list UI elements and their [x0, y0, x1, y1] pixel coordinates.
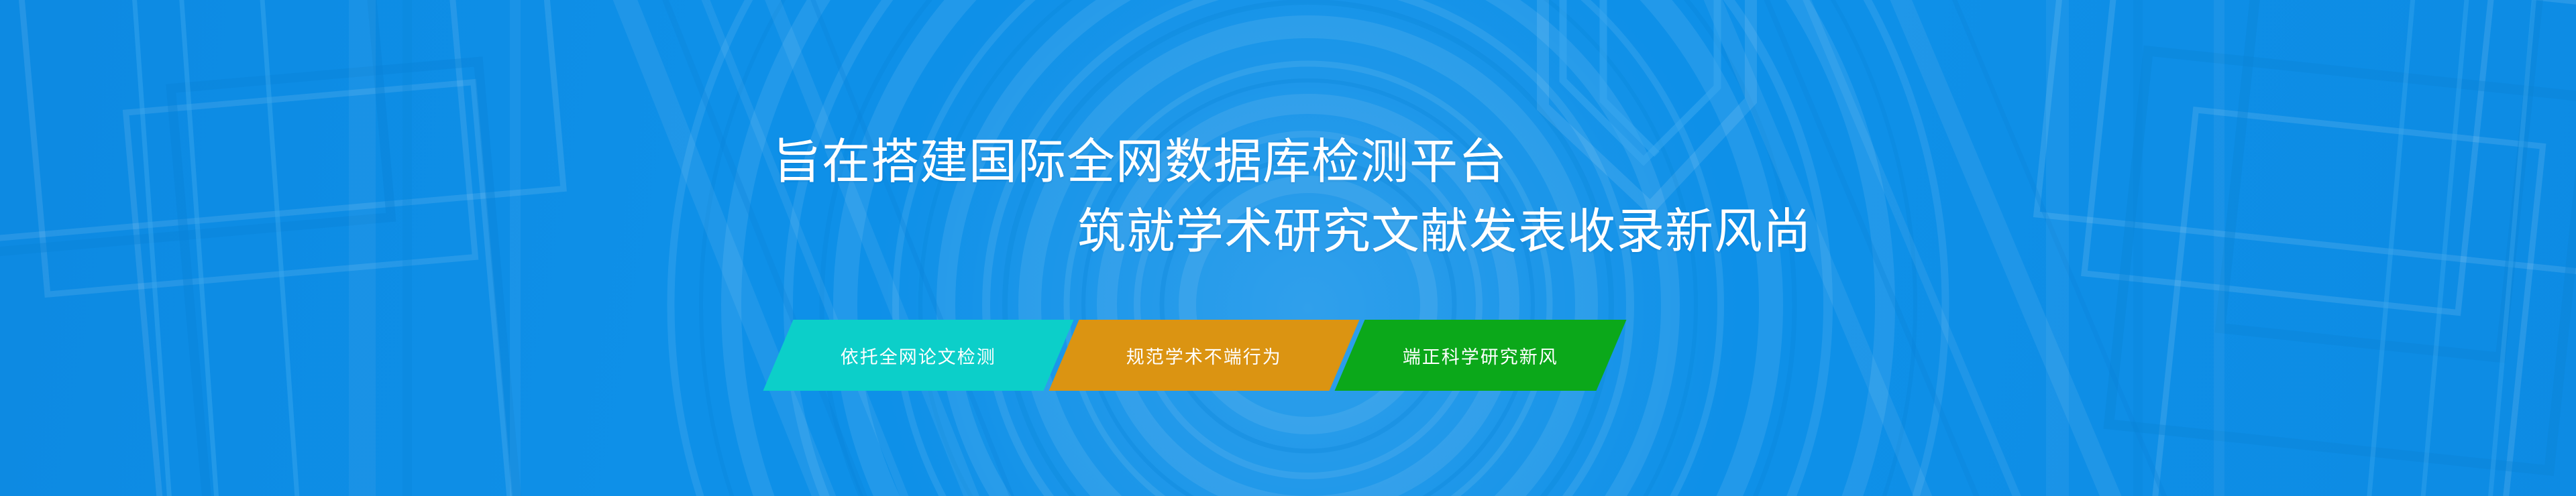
- feature-tag-label: 端正科学研究新风: [1403, 343, 1558, 369]
- feature-tag-academic-misconduct[interactable]: 规范学术不端行为: [1049, 320, 1360, 391]
- feature-tag-label: 依托全网论文检测: [841, 343, 996, 369]
- feature-tag-research-integrity[interactable]: 端正科学研究新风: [1335, 320, 1627, 391]
- headline-block: 旨在搭建国际全网数据库检测平台 筑就学术研究文献发表收录新风尚: [0, 127, 2576, 267]
- feature-tag-plagiarism-detection[interactable]: 依托全网论文检测: [763, 320, 1074, 391]
- feature-tag-strip: 依托全网论文检测 规范学术不端行为 端正科学研究新风: [778, 320, 1611, 391]
- promo-banner: 旨在搭建国际全网数据库检测平台 筑就学术研究文献发表收录新风尚 依托全网论文检测…: [0, 0, 2576, 496]
- feature-tag-label: 规范学术不端行为: [1126, 343, 1282, 369]
- headline-line-1: 旨在搭建国际全网数据库检测平台: [773, 127, 2576, 197]
- headline-line-2: 筑就学术研究文献发表收录新风尚: [1077, 197, 2576, 267]
